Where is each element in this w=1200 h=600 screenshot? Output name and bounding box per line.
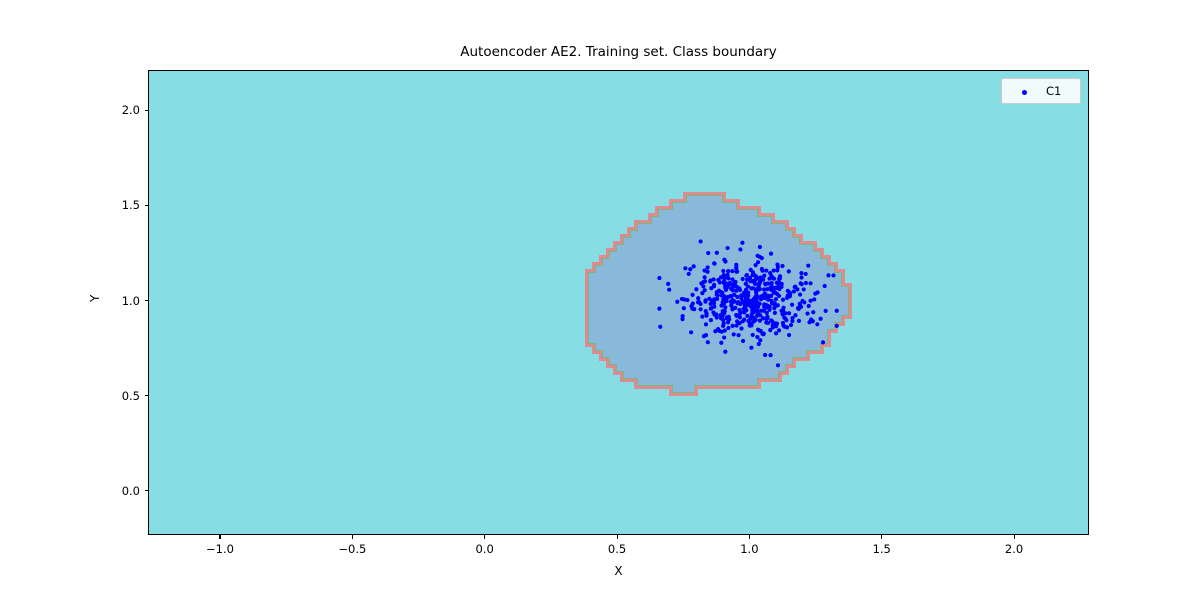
scatter-point [658,325,662,329]
scatter-point [783,325,787,329]
scatter-point [824,309,828,313]
x-tick-mark [1014,535,1015,539]
scatter-point [698,307,702,311]
scatter-point [657,276,661,280]
legend-entry-label: C1 [1046,84,1061,98]
scatter-point [683,266,687,270]
page-title: Autoencoder AE2. Training set. Class bou… [148,44,1089,60]
scatter-point [802,287,806,291]
scatter-point [735,269,739,273]
scatter-point [706,251,710,255]
x-tick-mark [749,535,750,539]
scatter-point [764,268,768,272]
scatter-point [692,264,696,268]
y-tick-mark [145,395,149,396]
scatter-point [762,302,766,306]
scatter-point [722,258,726,262]
scatter-point [748,304,752,308]
x-tick-label: 1.0 [740,542,758,556]
scatter-point [780,264,784,268]
scatter-point [777,328,781,332]
scatter-point [765,315,769,319]
scatter-point [688,267,692,271]
scatter-point [719,290,723,294]
scatter-point [657,306,661,310]
scatter-point [787,269,791,273]
scatter-point [758,245,762,249]
scatter-point [759,309,763,313]
y-tick-label: 0.0 [100,484,140,498]
scatter-point [749,268,753,272]
scatter-point [812,297,816,301]
scatter-point [704,322,708,326]
matplotlib-figure: Autoencoder AE2. Training set. Class bou… [0,0,1200,600]
scatter-point [774,297,778,301]
scatter-point [714,312,718,316]
scatter-point [701,280,705,284]
scatter-point [772,268,776,272]
scatter-point [745,314,749,318]
scatter-point [667,288,671,292]
scatter-point [826,273,830,277]
scatter-point [804,281,808,285]
scatter-point [773,291,777,295]
scatter-point [759,329,763,333]
x-tick-label: −0.5 [338,542,366,556]
scatter-point [813,292,817,296]
scatter-point [783,311,787,315]
scatter-points-layer [148,70,1089,535]
scatter-point [704,314,708,318]
scatter-point [725,274,729,278]
scatter-point [752,319,756,323]
scatter-point [729,304,733,308]
scatter-point [818,317,822,321]
scatter-point [754,263,758,267]
scatter-point [778,274,782,278]
scatter-point [768,353,772,357]
x-tick-mark [352,535,353,539]
scatter-point [694,287,698,291]
scatter-point [712,284,716,288]
scatter-point [755,288,759,292]
scatter-point [728,294,732,298]
scatter-point [799,271,803,275]
scatter-point [704,298,708,302]
scatter-point [770,319,774,323]
scatter-point [769,252,773,256]
scatter-point [715,251,719,255]
scatter-point [666,282,670,286]
scatter-point [742,317,746,321]
scatter-point [800,282,804,286]
scatter-point [775,268,779,272]
scatter-point [757,342,761,346]
scatter-point [712,297,716,301]
scatter-point [721,269,725,273]
scatter-point [700,291,704,295]
scatter-point [789,323,793,327]
scatter-point [758,275,762,279]
scatter-point [723,328,727,332]
scatter-point [749,346,753,350]
y-tick-mark [145,110,149,111]
scatter-point [727,317,731,321]
x-tick-label: −1.0 [206,542,234,556]
scatter-point [761,332,765,336]
scatter-point [758,319,762,323]
scatter-point [702,334,706,338]
scatter-point [765,311,769,315]
scatter-point [682,306,686,310]
scatter-point [755,335,759,339]
scatter-point [722,335,726,339]
scatter-point [708,279,712,283]
scatter-point [776,363,780,367]
scatter-point [807,304,811,308]
scatter-point [835,324,839,328]
scatter-point [783,316,787,320]
scatter-point [724,286,728,290]
scatter-point [786,293,790,297]
scatter-point [717,329,721,333]
scatter-point [734,289,738,293]
scatter-point [773,311,777,315]
scatter-point [808,299,812,303]
scatter-point [705,270,709,274]
scatter-point [792,289,796,293]
scatter-point [725,246,729,250]
scatter-point [768,271,772,275]
scatter-point [787,311,791,315]
scatter-point [754,276,758,280]
scatter-point [758,280,762,284]
x-axis-label: X [148,564,1089,578]
scatter-point [744,308,748,312]
scatter-point [758,313,762,317]
scatter-point [698,302,702,306]
scatter-point [738,288,742,292]
scatter-point [718,313,722,317]
x-tick-label: 0.0 [476,542,494,556]
x-tick-mark [617,535,618,539]
scatter-point [737,321,741,325]
scatter-point [751,333,755,337]
scatter-point [790,316,794,320]
scatter-point [689,330,693,334]
scatter-point [749,316,753,320]
scatter-point [700,314,704,318]
scatter-point [759,294,763,298]
scatter-point [723,350,727,354]
scatter-point [739,326,743,330]
scatter-point [763,353,767,357]
scatter-point [706,265,710,269]
scatter-point [734,266,738,270]
scatter-point [758,338,762,342]
scatter-point [747,277,751,281]
scatter-point [726,326,730,330]
scatter-point [719,341,723,345]
legend-marker-icon [1022,90,1027,95]
scatter-point [823,284,827,288]
y-tick-mark [145,205,149,206]
scatter-point [766,294,770,298]
scatter-point [776,285,780,289]
scatter-point [760,256,764,260]
scatter-point [771,285,775,289]
scatter-point [732,332,736,336]
scatter-point [733,282,737,286]
scatter-point [798,292,802,296]
scatter-point [687,272,691,276]
scatter-point [712,261,716,265]
scatter-point [722,273,726,277]
scatter-point [821,340,825,344]
scatter-point [763,282,767,286]
scatter-point [716,278,720,282]
scatter-point [774,324,778,328]
scatter-point [835,309,839,313]
scatter-point [722,301,726,305]
scatter-point [744,297,748,301]
scatter-point [831,273,835,277]
scatter-point [722,280,726,284]
scatter-point [712,305,716,309]
scatter-point [774,331,778,335]
scatter-point [703,275,707,279]
scatter-point [762,287,766,291]
scatter-point [781,298,785,302]
scatter-point [735,295,739,299]
scatter-point [738,247,742,251]
x-tick-label: 1.5 [873,542,891,556]
scatter-point [675,300,679,304]
scatter-point [704,309,708,313]
scatter-point [808,281,812,285]
scatter-point [738,302,742,306]
scatter-point [699,239,703,243]
y-tick-label: 1.0 [100,294,140,308]
scatter-point [777,294,781,298]
y-tick-mark [145,300,149,301]
scatter-point [748,322,752,326]
scatter-point [781,306,785,310]
scatter-point [760,269,764,273]
x-tick-label: 2.0 [1005,542,1023,556]
scatter-point [793,285,797,289]
scatter-point [790,303,794,307]
scatter-point [772,277,776,281]
scatter-point [799,275,803,279]
x-tick-mark [219,535,220,539]
scatter-point [732,299,736,303]
x-tick-mark [881,535,882,539]
y-axis-label: Y [88,295,102,302]
scatter-point [754,302,758,306]
scatter-point [690,307,694,311]
scatter-point [682,297,686,301]
scatter-point [773,303,777,307]
scatter-point [726,269,730,273]
scatter-point [775,263,779,267]
scatter-point [721,318,725,322]
scatter-point [798,304,802,308]
scatter-point [731,324,735,328]
scatter-point [709,318,713,322]
scatter-point [736,333,740,337]
scatter-point [802,300,806,304]
scatter-point [811,310,815,314]
scatter-point [764,320,768,324]
y-tick-label: 1.5 [100,198,140,212]
y-tick-label: 0.5 [100,389,140,403]
scatter-point [741,277,745,281]
x-tick-mark [484,535,485,539]
scatter-point [740,241,744,245]
scatter-point [805,311,809,315]
scatter-point [751,286,755,290]
scatter-point [755,254,759,258]
scatter-point [809,317,813,321]
scatter-point [737,313,741,317]
legend-box[interactable]: C1 [1001,78,1081,104]
scatter-point [681,314,685,318]
scatter-point [690,293,694,297]
scatter-point [768,328,772,332]
scatter-point [786,289,790,293]
scatter-point [787,333,791,337]
scatter-point [741,339,745,343]
scatter-point [780,282,784,286]
scatter-point [762,274,766,278]
scatter-point [706,340,710,344]
scatter-point [744,282,748,286]
x-tick-label: 0.5 [608,542,626,556]
scatter-point [744,288,748,292]
scatter-point [769,299,773,303]
scatter-point [723,305,727,309]
scatter-point [744,304,748,308]
scatter-point [756,308,760,312]
y-tick-label: 2.0 [100,103,140,117]
scatter-point [797,319,801,323]
scatter-point [770,281,774,285]
scatter-point [806,264,810,268]
scatter-point [815,322,819,326]
scatter-point [730,269,734,273]
plot-area [148,70,1089,535]
scatter-point [744,274,748,278]
scatter-point [752,298,756,302]
scatter-point [804,272,808,276]
y-tick-mark [145,490,149,491]
scatter-point [696,296,700,300]
